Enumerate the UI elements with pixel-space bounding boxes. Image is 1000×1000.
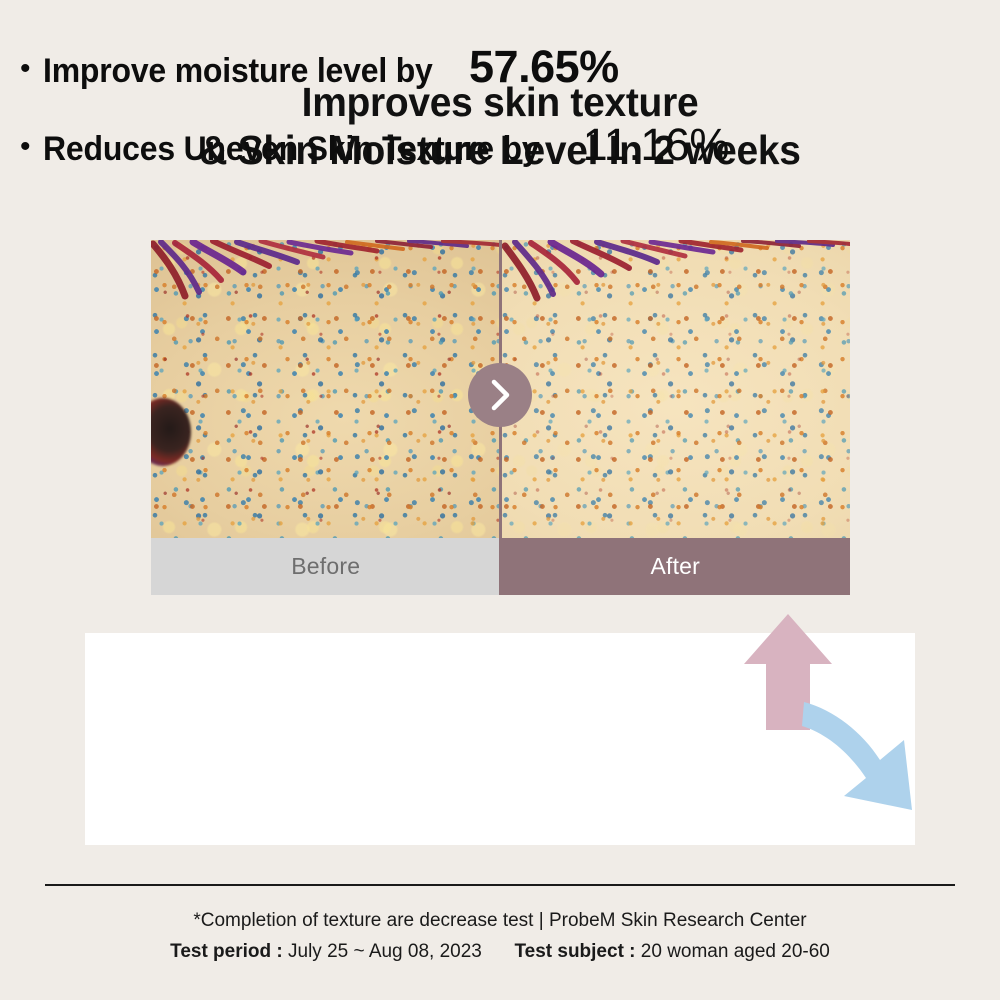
before-hair-streaks [151, 240, 501, 302]
chevron-right-icon [468, 363, 532, 427]
test-subject-value: 20 woman aged 20-60 [641, 941, 830, 962]
test-period-value: July 25 ~ Aug 08, 2023 [288, 941, 482, 962]
arrow-down-icon [800, 698, 926, 816]
footer: *Completion of texture are decrease test… [0, 906, 1000, 968]
footer-test-details: Test period : July 25 ~ Aug 08, 2023 Tes… [0, 937, 1000, 968]
after-label: After [501, 538, 851, 595]
claim-item-texture: • Reduces Uneven Skin Texture by 11.16% [0, 119, 830, 171]
claim-text: Improve moisture level by [43, 52, 433, 91]
after-hair-streaks [501, 240, 851, 302]
after-panel: After [501, 240, 851, 595]
claim-value: 11.16% [583, 119, 729, 171]
infographic-page: Improves skin texture & Skin Moisture Le… [0, 0, 1000, 1000]
bullet-icon: • [20, 54, 31, 84]
test-subject-label: Test subject : [514, 941, 635, 962]
footer-divider [45, 884, 955, 886]
footer-disclaimer: *Completion of texture are decrease test… [0, 906, 1000, 937]
after-skin-photo [501, 240, 851, 538]
claim-text: Reduces Uneven Skin Texture by [43, 130, 539, 169]
before-panel: Before [151, 240, 501, 595]
before-label: Before [151, 538, 501, 595]
claims-list: • Improve moisture level by 57.65% • Red… [0, 0, 830, 212]
before-skin-photo [151, 240, 501, 538]
test-period-label: Test period : [170, 941, 283, 962]
claim-item-moisture: • Improve moisture level by 57.65% [0, 41, 830, 93]
bullet-icon: • [20, 132, 31, 162]
claim-value: 57.65% [469, 41, 619, 93]
